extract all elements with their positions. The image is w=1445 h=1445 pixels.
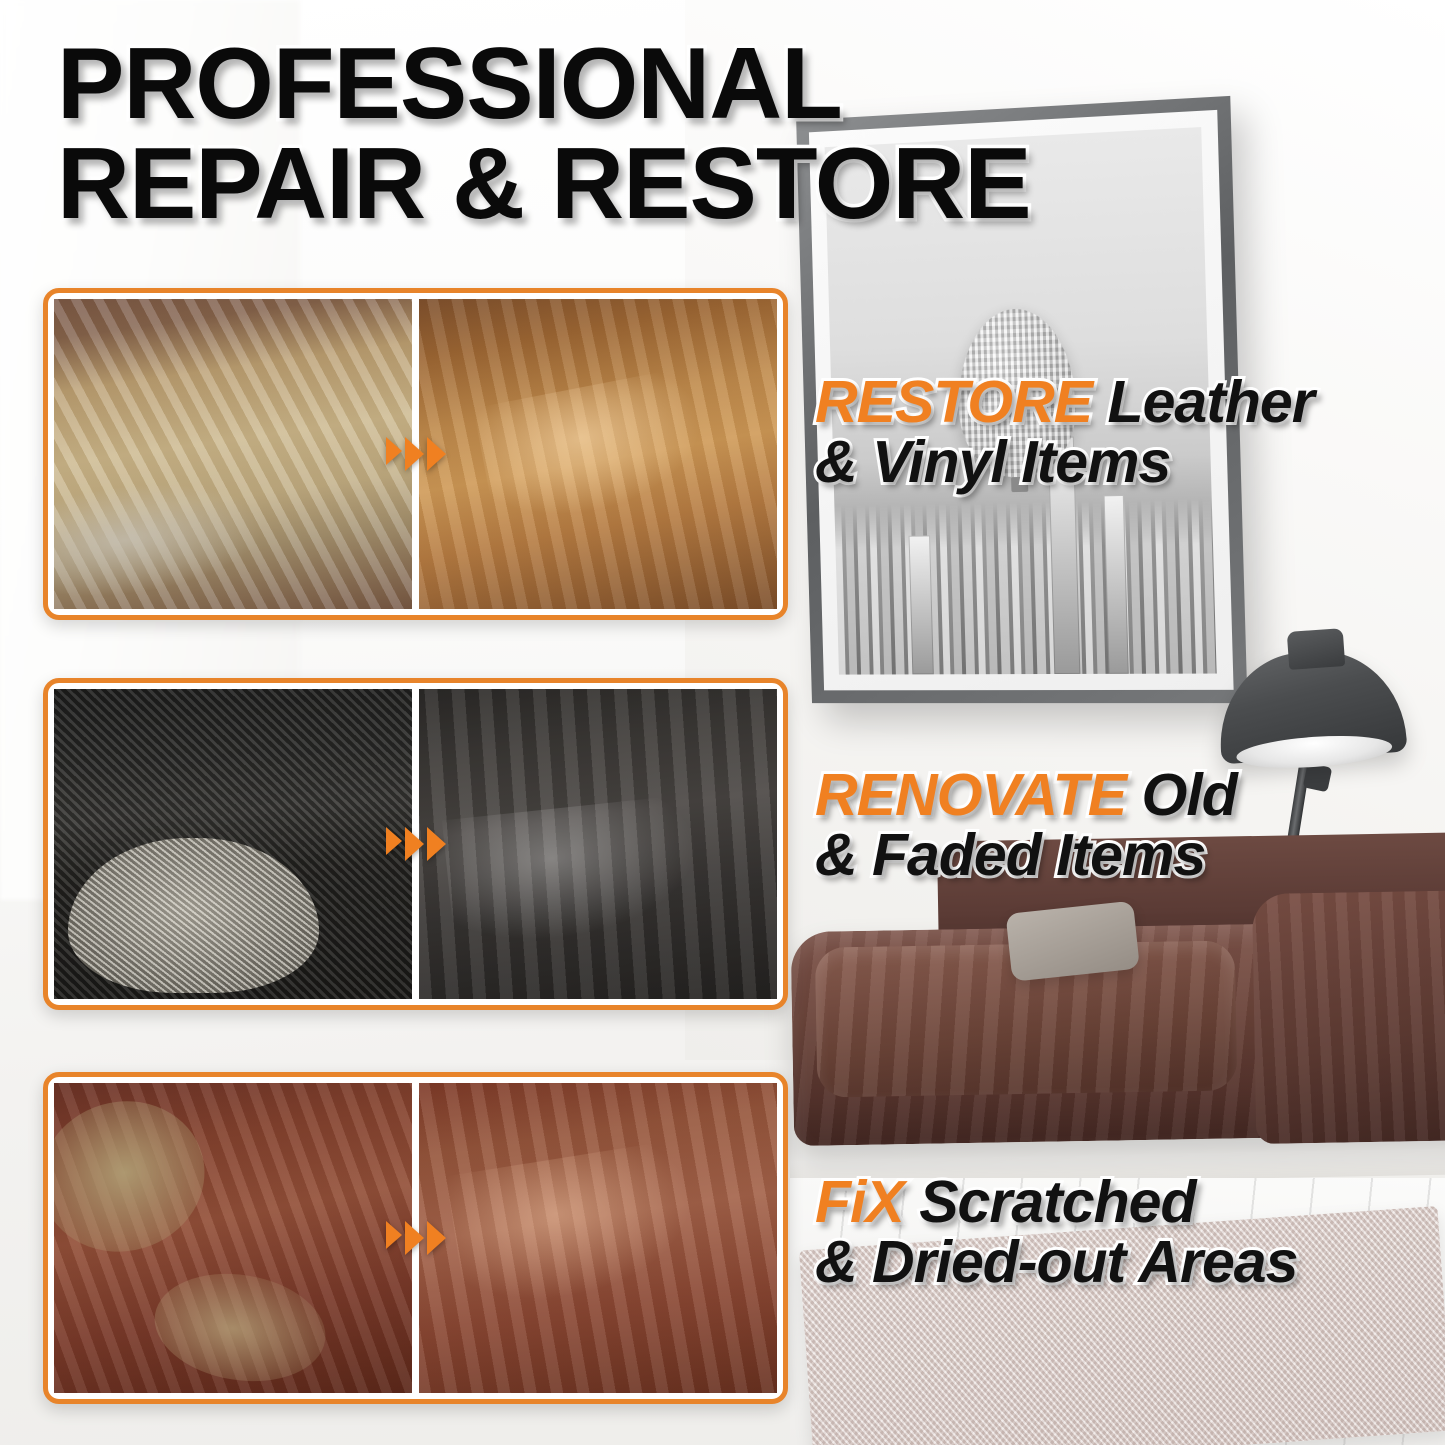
before-after-pair — [54, 299, 777, 609]
comparison-panel-fix — [43, 1072, 788, 1404]
lamp-cap — [1287, 628, 1346, 670]
feature-text-fix: FiX Scratched & Dried-out Areas — [815, 1172, 1435, 1292]
page-title: PROFESSIONAL REPAIR & RESTORE — [57, 34, 1177, 234]
before-image-restore — [54, 299, 412, 609]
comparison-panel-renovate — [43, 678, 788, 1010]
chevron-right-icon — [386, 437, 446, 471]
chevron-right-icon — [386, 1221, 446, 1255]
feature-text-restore: RESTORE Leather & Vinyl Items — [815, 372, 1435, 492]
feature-line2-restore: & Vinyl Items — [815, 432, 1435, 492]
feature-line1-restore: Leather — [1092, 369, 1314, 435]
feature-text-renovate: RENOVATE Old & Faded Items — [815, 765, 1435, 885]
feature-line1-renovate: Old — [1126, 762, 1237, 828]
feature-line2-fix: & Dried-out Areas — [815, 1232, 1435, 1292]
before-after-pair — [54, 689, 777, 999]
product-feature-graphic: PROFESSIONAL REPAIR & RESTORE — [0, 0, 1445, 1445]
comparison-panel-restore — [43, 288, 788, 620]
sofa-pillow — [1006, 901, 1140, 982]
after-image-renovate — [419, 689, 777, 999]
feature-line2-renovate: & Faded Items — [815, 825, 1435, 885]
feature-keyword-restore: RESTORE — [815, 369, 1092, 435]
after-image-fix — [419, 1083, 777, 1393]
after-image-restore — [419, 299, 777, 609]
feature-line1-fix: Scratched — [904, 1169, 1196, 1235]
chevron-right-icon — [386, 827, 446, 861]
tower-icon — [909, 536, 934, 675]
sofa-arm — [1252, 890, 1445, 1144]
before-image-renovate — [54, 689, 412, 999]
before-image-fix — [54, 1083, 412, 1393]
feature-keyword-fix: FiX — [815, 1169, 904, 1235]
feature-keyword-renovate: RENOVATE — [815, 762, 1126, 828]
before-after-pair — [54, 1083, 777, 1393]
